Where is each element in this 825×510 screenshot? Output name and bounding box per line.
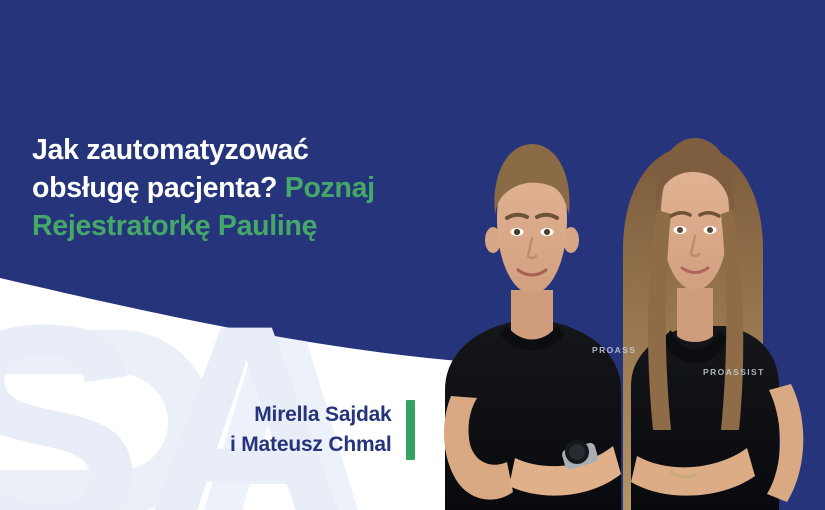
background-watermark: SA bbox=[0, 280, 349, 510]
man-pupil-right bbox=[544, 229, 550, 235]
woman-pupil-right bbox=[707, 227, 713, 233]
headline-line-3-green: Rejestratorkę Paulinę bbox=[32, 210, 317, 242]
presenter-names-block: Mirella Sajdak i Mateusz Chmal bbox=[230, 400, 415, 460]
presenters-photo-svg bbox=[425, 90, 825, 510]
headline-line-1: Jak zautomatyzować bbox=[32, 134, 309, 166]
headline: Jak zautomatyzować obsługę pacjenta? Poz… bbox=[32, 132, 462, 246]
promo-banner: SA Jak zautomatyzować obsługę pacjenta? … bbox=[0, 0, 825, 510]
presenters-photo bbox=[425, 90, 825, 510]
man-neck bbox=[511, 290, 553, 340]
presenter-names: Mirella Sajdak i Mateusz Chmal bbox=[230, 400, 392, 460]
woman-pupil-left bbox=[677, 227, 683, 233]
green-accent-bar bbox=[406, 400, 415, 460]
shirt-logo-woman: PROASSIST bbox=[703, 367, 765, 377]
presenter-name-line-1: Mirella Sajdak bbox=[230, 400, 392, 430]
headline-line-2-white: obsługę pacjenta? bbox=[32, 172, 277, 204]
woman-neck bbox=[677, 288, 713, 342]
shirt-logo-man: PROASS bbox=[592, 345, 636, 355]
presenter-man bbox=[444, 144, 621, 510]
presenter-woman bbox=[623, 138, 803, 510]
presenter-name-line-2: i Mateusz Chmal bbox=[230, 430, 392, 460]
headline-line-2-green: Poznaj bbox=[277, 172, 375, 204]
